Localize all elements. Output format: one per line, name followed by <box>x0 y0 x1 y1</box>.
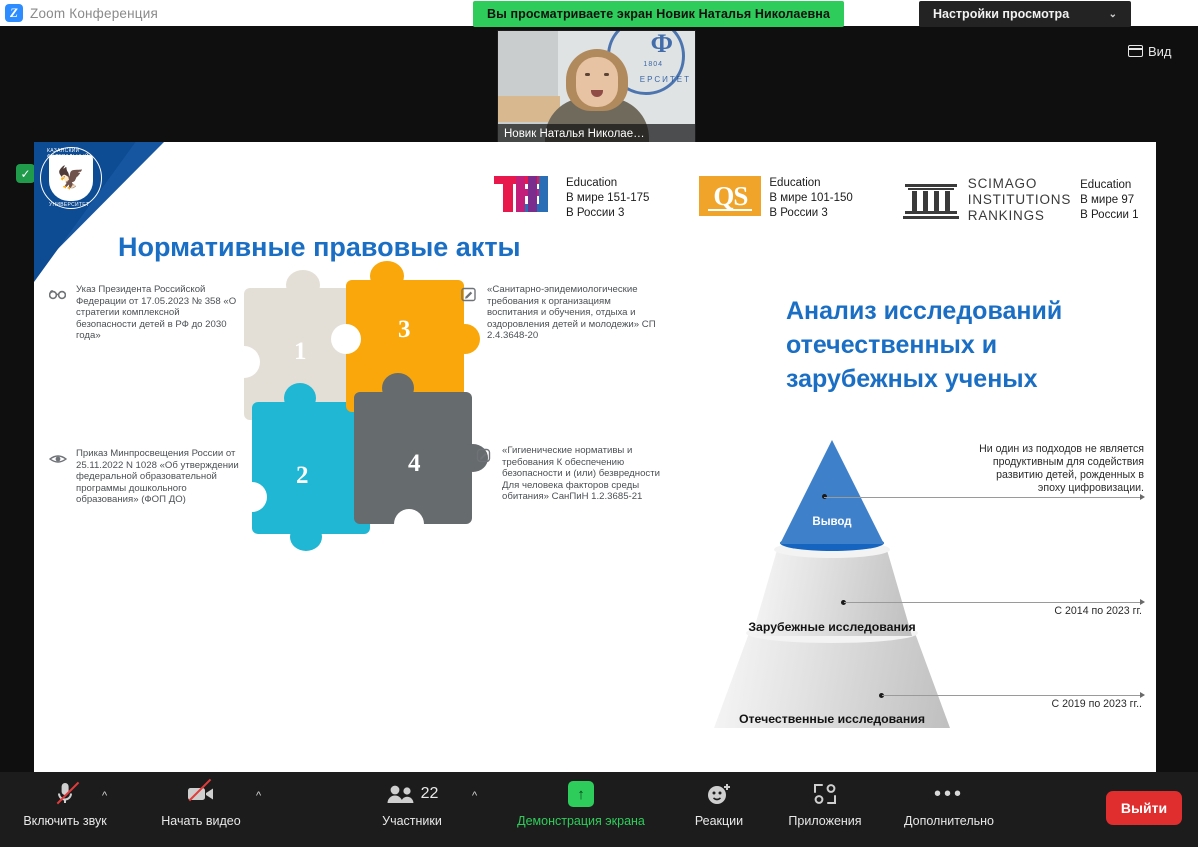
leader-line-2 <box>844 602 1142 603</box>
puzzle-piece-2-number: 2 <box>296 462 309 490</box>
toolbar-participants-button[interactable]: 22 Участники <box>357 780 467 828</box>
document-block-1: Указ Президента Российской Федерации от … <box>48 284 241 342</box>
toolbar-reactions-label: Реакции <box>695 814 743 828</box>
ellipsis-icon: ••• <box>934 780 964 808</box>
screen-share-banner: Вы просматриваете экран Новик Наталья Ни… <box>473 1 844 27</box>
view-settings-button[interactable]: Настройки просмотра ⌄ <box>919 1 1131 27</box>
leave-meeting-button[interactable]: Выйти <box>1106 791 1182 825</box>
document-block-1-text: Указ Президента Российской Федерации от … <box>76 284 241 342</box>
eye-right <box>604 73 609 76</box>
toolbar-start-video-button[interactable]: Начать видео <box>146 780 256 828</box>
qs-logo-icon: QS <box>699 176 761 216</box>
ranking-scimago-meta: Education В мире 97 В России 1 <box>1080 178 1138 223</box>
share-arrow-up-icon: ↑ <box>568 780 594 808</box>
slide-title: Нормативные правовые акты <box>118 232 521 263</box>
kfu-seal-top-text: КАЗАНСКИЙ ФЕДЕРАЛЬНЫЙ <box>47 148 102 160</box>
audio-options-caret[interactable]: ^ <box>102 790 107 802</box>
scimago-line: SCIMAGO <box>968 176 1071 192</box>
scimago-line: RANKINGS <box>968 208 1071 224</box>
leader-line-1 <box>824 497 1142 498</box>
toolbar-reactions-button[interactable]: Реакции <box>664 780 774 828</box>
toolbar-unmute-label: Включить звук <box>23 814 106 828</box>
people-icon: 22 <box>386 780 439 808</box>
shared-slide: 🦅 КАЗАНСКИЙ ФЕДЕРАЛЬНЫЙ УНИВЕРСИТЕТ Норм… <box>34 142 1156 772</box>
ranking-line: В России 3 <box>769 206 852 221</box>
toolbar-participants-label: Участники <box>382 814 442 828</box>
ranking-qs-meta: Education В мире 101-150 В России 3 <box>769 176 852 221</box>
pyramid-diagram: Вывод Зарубежные исследования Отечествен… <box>704 440 954 770</box>
kfu-seal-bottom-text: УНИВЕРСИТЕТ <box>49 202 89 208</box>
emblem-text: ЕРСИТЕТ <box>640 75 691 84</box>
participants-count: 22 <box>421 785 439 803</box>
scimago-logo-text: SCIMAGO INSTITUTIONS RANKINGS <box>968 176 1071 224</box>
research-title-line-1: Анализ исследований <box>786 294 1062 328</box>
scimago-institution-icon <box>903 181 959 219</box>
puzzle-graphic: 1 2 3 <box>244 280 494 570</box>
scimago-line: INSTITUTIONS <box>968 192 1071 208</box>
ranking-the-meta: Education В мире 151-175 В России 3 <box>566 176 649 221</box>
ranking-line: Education <box>566 176 649 191</box>
research-title-line-2: отечественных и <box>786 328 1062 362</box>
mouth <box>591 90 603 97</box>
participant-name-label: Новик Наталья Николае… <box>498 124 696 144</box>
leader-line-3 <box>882 695 1142 696</box>
eye-left <box>585 73 590 76</box>
apps-bracket-icon <box>812 780 838 808</box>
puzzle-piece-4: 4 <box>354 392 472 524</box>
ranking-scimago: SCIMAGO INSTITUTIONS RANKINGS Education … <box>903 176 1139 224</box>
zoom-logo-icon: Z <box>5 4 23 22</box>
document-block-2: Приказ Минпросвещения России от 25.11.20… <box>48 448 241 506</box>
document-block-3: «Санитарно-эпидемиологические требования… <box>459 284 662 342</box>
ranking-line: В России 1 <box>1080 208 1138 223</box>
person-face <box>576 57 618 107</box>
document-block-4-text: «Гигиенические нормативы и требования К … <box>502 445 662 503</box>
ranking-line: В мире 97 <box>1080 193 1138 208</box>
qs-logo-text: QS <box>713 181 747 212</box>
toolbar-unmute-button[interactable]: Включить звук <box>10 780 120 828</box>
layout-grid-icon <box>1128 45 1143 57</box>
the-logo-icon <box>494 176 558 212</box>
toolbar-apps-button[interactable]: Приложения <box>770 780 880 828</box>
ranking-line: Education <box>1080 178 1138 193</box>
toolbar-apps-label: Приложения <box>788 814 861 828</box>
rankings-row: Education В мире 151-175 В России 3 QS E… <box>494 176 1139 224</box>
research-section-title: Анализ исследований отечественных и зару… <box>786 294 1062 396</box>
microphone-muted-icon <box>55 780 75 808</box>
ranking-line: В России 3 <box>566 206 649 221</box>
participants-options-caret[interactable]: ^ <box>472 790 477 802</box>
ranking-line: В мире 151-175 <box>566 191 649 206</box>
glasses-icon <box>48 286 67 303</box>
qs-logo-underline <box>708 209 752 211</box>
pencil-icon <box>474 447 493 464</box>
puzzle-piece-1-number: 1 <box>294 338 307 366</box>
view-settings-label: Настройки просмотра <box>933 7 1069 21</box>
puzzle-piece-4-number: 4 <box>408 450 421 478</box>
callout-domestic-period: С 2019 по 2023 гг.. <box>972 698 1142 711</box>
eye-icon <box>48 450 67 467</box>
toolbar-more-label: Дополнительно <box>904 814 994 828</box>
smiley-plus-icon <box>706 780 732 808</box>
ranking-line: Education <box>769 176 852 191</box>
research-title-line-3: зарубежных ученых <box>786 362 1062 396</box>
view-button[interactable]: Вид <box>1128 40 1172 62</box>
emblem-year: 1804 <box>643 61 663 68</box>
camera-muted-icon <box>187 780 215 808</box>
document-block-3-text: «Санитарно-эпидемиологические требования… <box>487 284 662 342</box>
toolbar-share-screen-button[interactable]: ↑ Демонстрация экрана <box>526 780 636 828</box>
toolbar-share-screen-label: Демонстрация экрана <box>517 814 645 828</box>
meeting-toolbar: Включить звук ^ Начать видео ^ 22 Участн… <box>0 772 1198 847</box>
ranking-qs: QS Education В мире 101-150 В России 3 <box>699 176 852 224</box>
callout-conclusion: Ни один из подходов не является продукти… <box>974 443 1144 495</box>
puzzle-piece-3-number: 3 <box>398 316 411 344</box>
participant-video-thumbnail[interactable]: Ф 1804 ЕРСИТЕТ Новик Наталья Николае… <box>497 30 696 145</box>
share-square: ↑ <box>568 781 594 807</box>
ranking-line: В мире 101-150 <box>769 191 852 206</box>
status-badge: ✓ <box>16 164 35 183</box>
ranking-the: Education В мире 151-175 В России 3 <box>494 176 649 224</box>
callout-foreign-period: С 2014 по 2023 гг. <box>972 605 1142 618</box>
emblem-initial: Ф <box>651 30 673 59</box>
toolbar-more-button[interactable]: ••• Дополнительно <box>894 780 1004 828</box>
pyramid-apex-label: Вывод <box>780 516 884 528</box>
chevron-down-icon: ⌄ <box>1109 9 1117 20</box>
pyramid-tier-bottom-label: Отечественные исследования <box>714 712 950 726</box>
pyramid-apex-shade <box>780 440 884 544</box>
note-pencil-icon <box>459 286 478 303</box>
puzzle-piece-2: 2 <box>252 402 370 534</box>
pyramid-tier-middle-label: Зарубежные исследования <box>734 620 930 634</box>
window-title: Zoom Конференция <box>30 6 158 21</box>
video-options-caret[interactable]: ^ <box>256 790 261 802</box>
document-block-4: «Гигиенические нормативы и требования К … <box>474 445 662 503</box>
toolbar-start-video-label: Начать видео <box>161 814 240 828</box>
view-button-label: Вид <box>1148 44 1172 59</box>
kfu-seal-text: КАЗАНСКИЙ ФЕДЕРАЛЬНЫЙ УНИВЕРСИТЕТ <box>40 147 102 209</box>
document-block-2-text: Приказ Минпросвещения России от 25.11.20… <box>76 448 241 506</box>
zoom-meeting-window: Z Zoom Конференция Вы просматриваете экр… <box>0 0 1198 847</box>
